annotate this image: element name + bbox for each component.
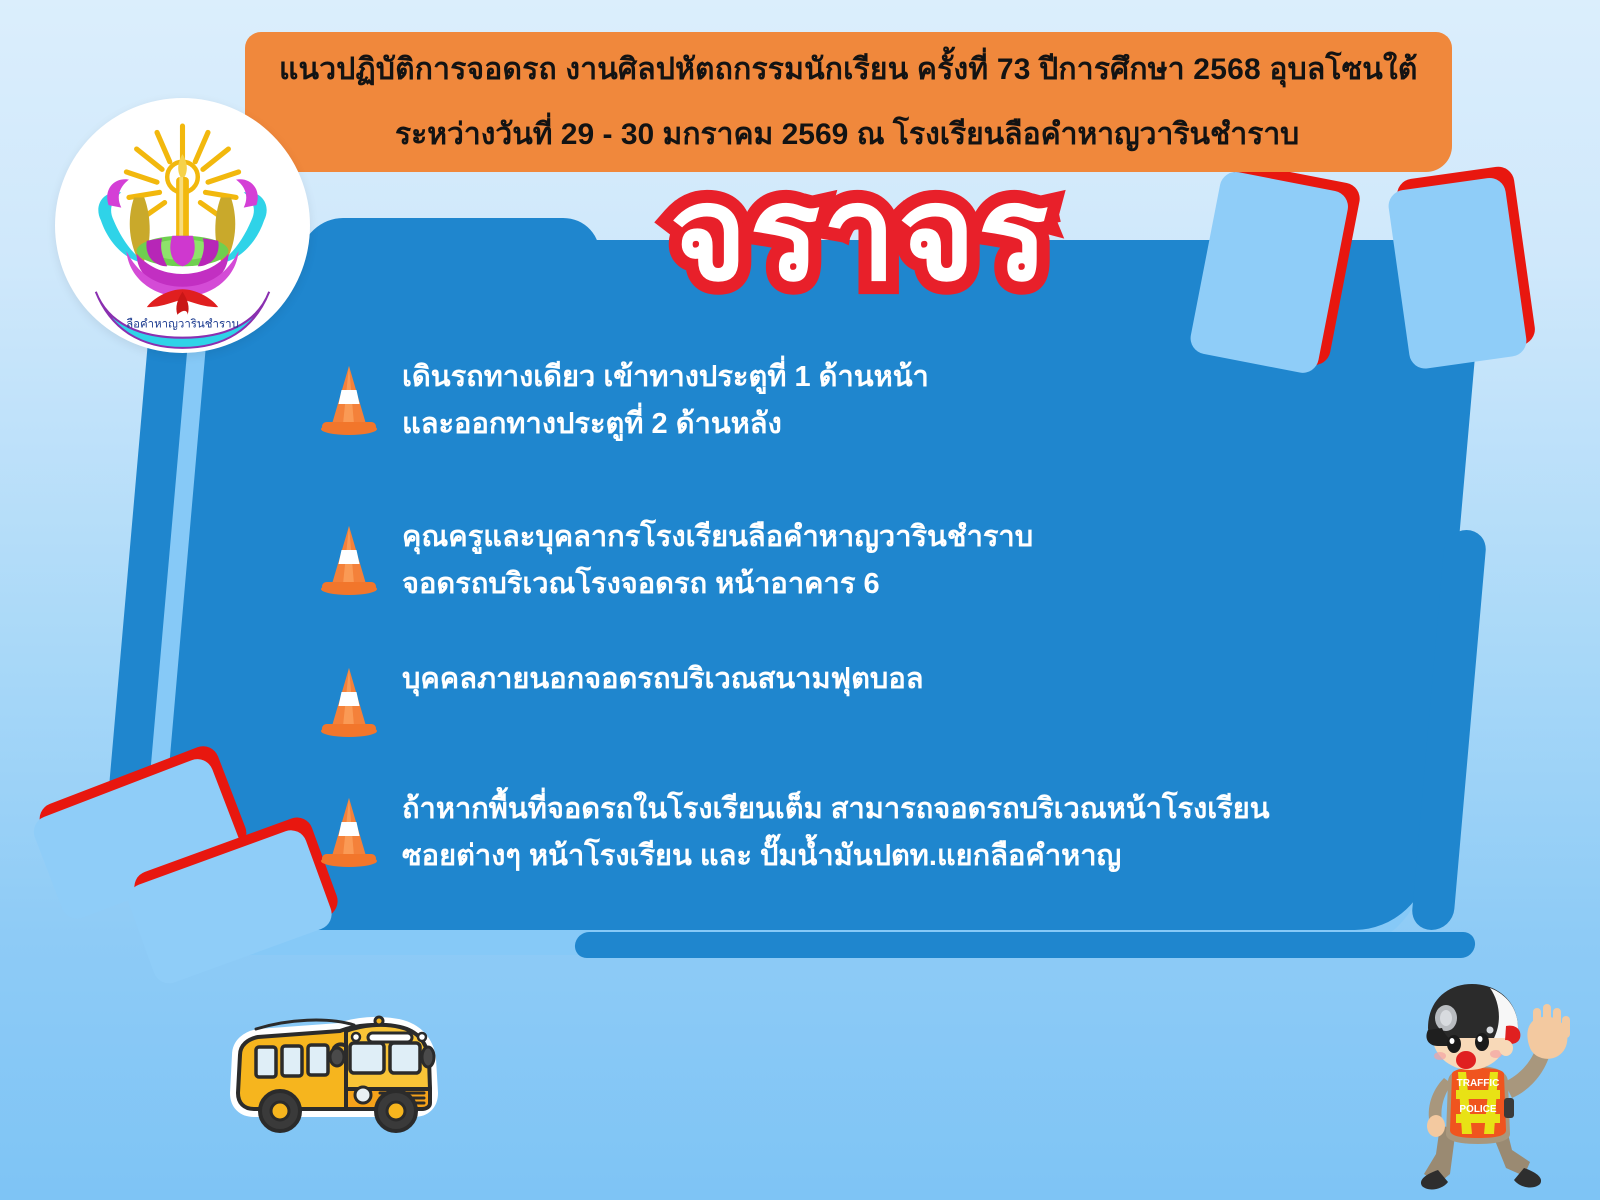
- traffic-cone-icon: [318, 512, 388, 596]
- list-item-line: และออกทางประตูที่ 2 ด้านหลัง: [402, 401, 929, 448]
- vest-text-line-1: TRAFFIC: [1457, 1078, 1500, 1089]
- guidelines-list: เดินรถทางเดียว เข้าทางประตูที่ 1 ด้านหน้…: [318, 352, 1418, 928]
- list-item-text: เดินรถทางเดียว เข้าทางประตูที่ 1 ด้านหน้…: [402, 352, 929, 448]
- list-item-line: บุคคลภายนอกจอดรถบริเวณสนามฟุตบอล: [402, 656, 924, 703]
- header-banner: แนวปฏิบัติการจอดรถ งานศิลปหัตถกรรมนักเรี…: [245, 32, 1452, 172]
- list-item-text: บุคคลภายนอกจอดรถบริเวณสนามฟุตบอล: [402, 654, 924, 703]
- list-item-line: ถ้าหากพื้นที่จอดรถในโรงเรียนเต็ม สามารถจ…: [402, 786, 1270, 833]
- list-item-line: จอดรถบริเวณโรงจอดรถ หน้าอาคาร 6: [402, 561, 1033, 608]
- header-banner-line-1: แนวปฏิบัติการจอดรถ งานศิลปหัตถกรรมนักเรี…: [245, 32, 1452, 103]
- traffic-cone-icon: [318, 784, 388, 868]
- panel-bottom-bar: [574, 932, 1476, 958]
- school-bus-icon: [228, 985, 446, 1135]
- list-item-text: ถ้าหากพื้นที่จอดรถในโรงเรียนเต็ม สามารถจ…: [402, 784, 1270, 880]
- list-item-line: ซอยต่างๆ หน้าโรงเรียน และ ปั๊มน้ำมันปตท.…: [402, 833, 1270, 880]
- list-item-line: เดินรถทางเดียว เข้าทางประตูที่ 1 ด้านหน้…: [402, 354, 929, 401]
- list-item-text: คุณครูและบุคลากรโรงเรียนลือคำหาญวารินชำร…: [402, 512, 1033, 608]
- red-card-decoration: [1395, 165, 1537, 360]
- list-item: บุคคลภายนอกจอดรถบริเวณสนามฟุตบอล: [318, 654, 1418, 738]
- emblem-red-flower: [147, 289, 218, 315]
- list-item: ถ้าหากพื้นที่จอดรถในโรงเรียนเต็ม สามารถจ…: [318, 784, 1418, 880]
- traffic-police-officer-icon: TRAFFIC POLICE: [1378, 978, 1593, 1200]
- list-item: คุณครูและบุคลากรโรงเรียนลือคำหาญวารินชำร…: [318, 512, 1418, 608]
- poster-canvas: แนวปฏิบัติการจอดรถ งานศิลปหัตถกรรมนักเรี…: [0, 0, 1600, 1200]
- traffic-cone-icon: [318, 352, 388, 436]
- list-item-line: คุณครูและบุคลากรโรงเรียนลือคำหาญวารินชำร…: [402, 514, 1033, 561]
- traffic-cone-icon: [318, 654, 388, 738]
- emblem-ribbon-text: ลือคำหาญวารินชำราบ: [126, 318, 239, 331]
- vest-text-line-2: POLICE: [1459, 1104, 1497, 1115]
- list-item: เดินรถทางเดียว เข้าทางประตูที่ 1 ด้านหน้…: [318, 352, 1418, 448]
- page-title: จราจร: [670, 168, 1051, 300]
- school-emblem: ลือคำหาญวารินชำราบ: [55, 98, 310, 353]
- emblem-lotus: [126, 236, 238, 297]
